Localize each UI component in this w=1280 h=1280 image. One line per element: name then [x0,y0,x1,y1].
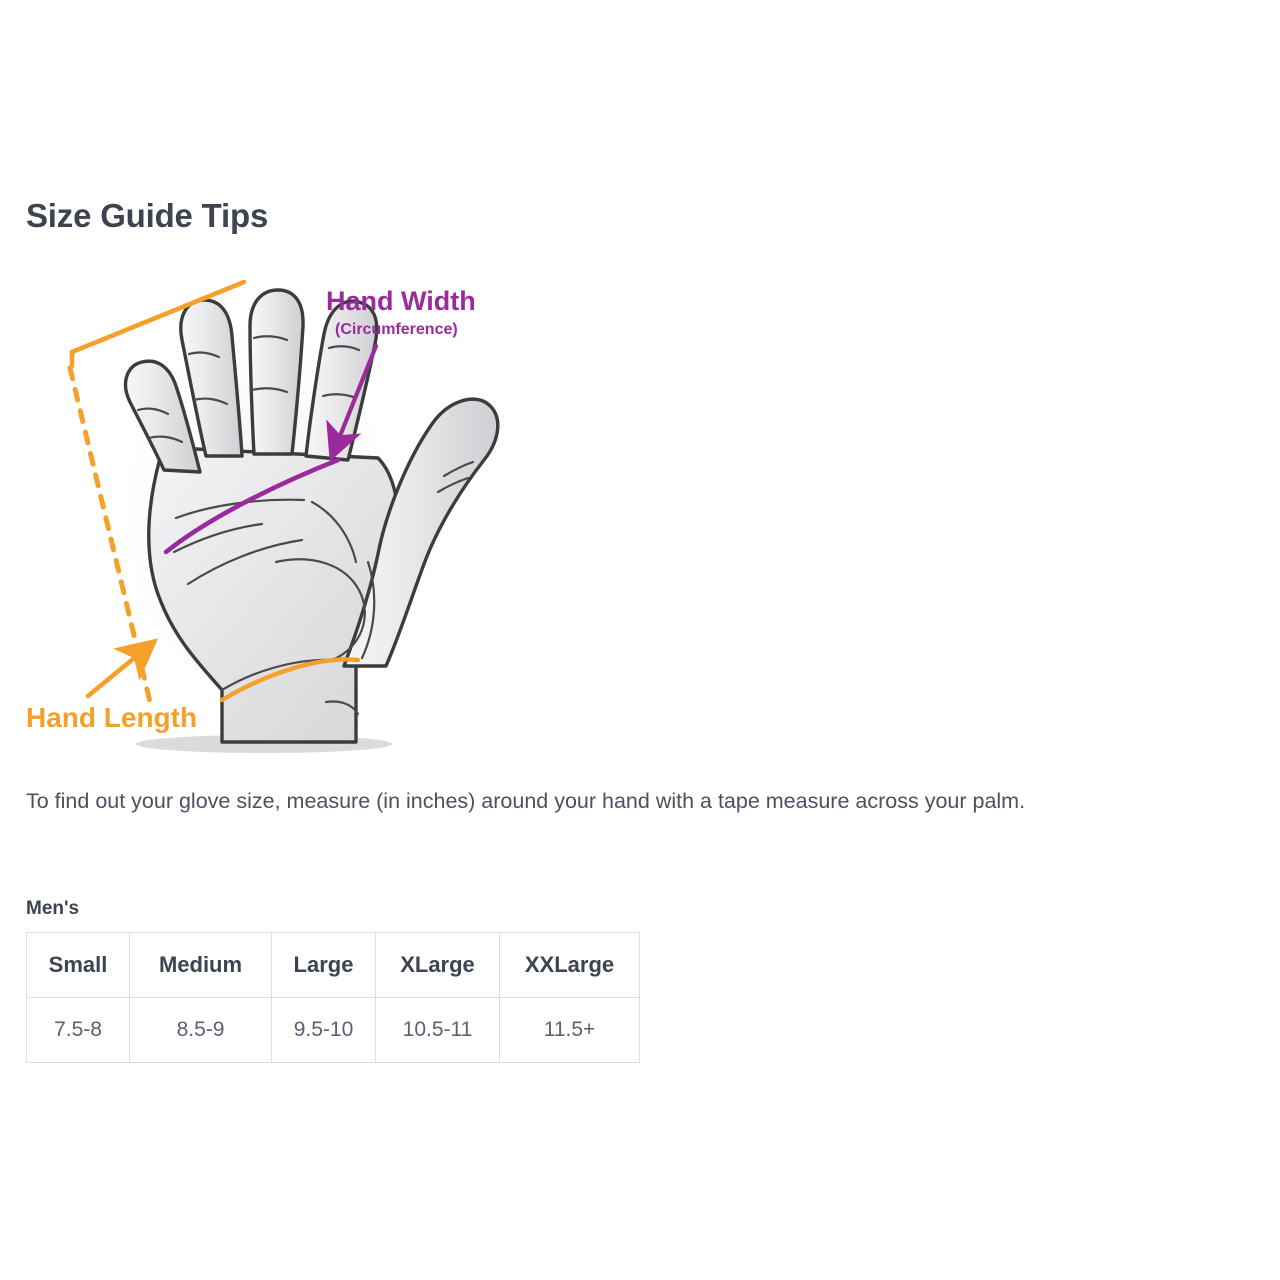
intro-text: To find out your glove size, measure (in… [26,786,1266,816]
page-title: Size Guide Tips [26,196,268,236]
table-header-xlarge: XLarge [376,933,500,998]
table-cell-large: 9.5-10 [272,998,376,1063]
hand-length-arrow [88,650,144,696]
hand-width-sublabel: (Circumference) [335,321,458,338]
hand-measurement-diagram: Hand Length Hand Width (Circumference) [26,262,526,762]
table-cell-xlarge: 10.5-11 [376,998,500,1063]
table-header-medium: Medium [130,933,272,998]
table-cell-medium: 8.5-9 [130,998,272,1063]
table-cell-xxlarge: 11.5+ [500,998,640,1063]
size-guide-page: Size Guide Tips [0,0,1280,1280]
table-header-xxlarge: XXLarge [500,933,640,998]
hand-length-label: Hand Length [26,702,197,733]
table-cell-small: 7.5-8 [27,998,130,1063]
table-header-row: Small Medium Large XLarge XXLarge [27,933,640,998]
size-table-label: Men's [26,898,79,920]
table-header-small: Small [27,933,130,998]
table-row: 7.5-8 8.5-9 9.5-10 10.5-11 11.5+ [27,998,640,1063]
hand-width-label: Hand Width [326,286,476,316]
table-header-large: Large [272,933,376,998]
size-chart-table: Small Medium Large XLarge XXLarge 7.5-8 … [26,932,640,1063]
